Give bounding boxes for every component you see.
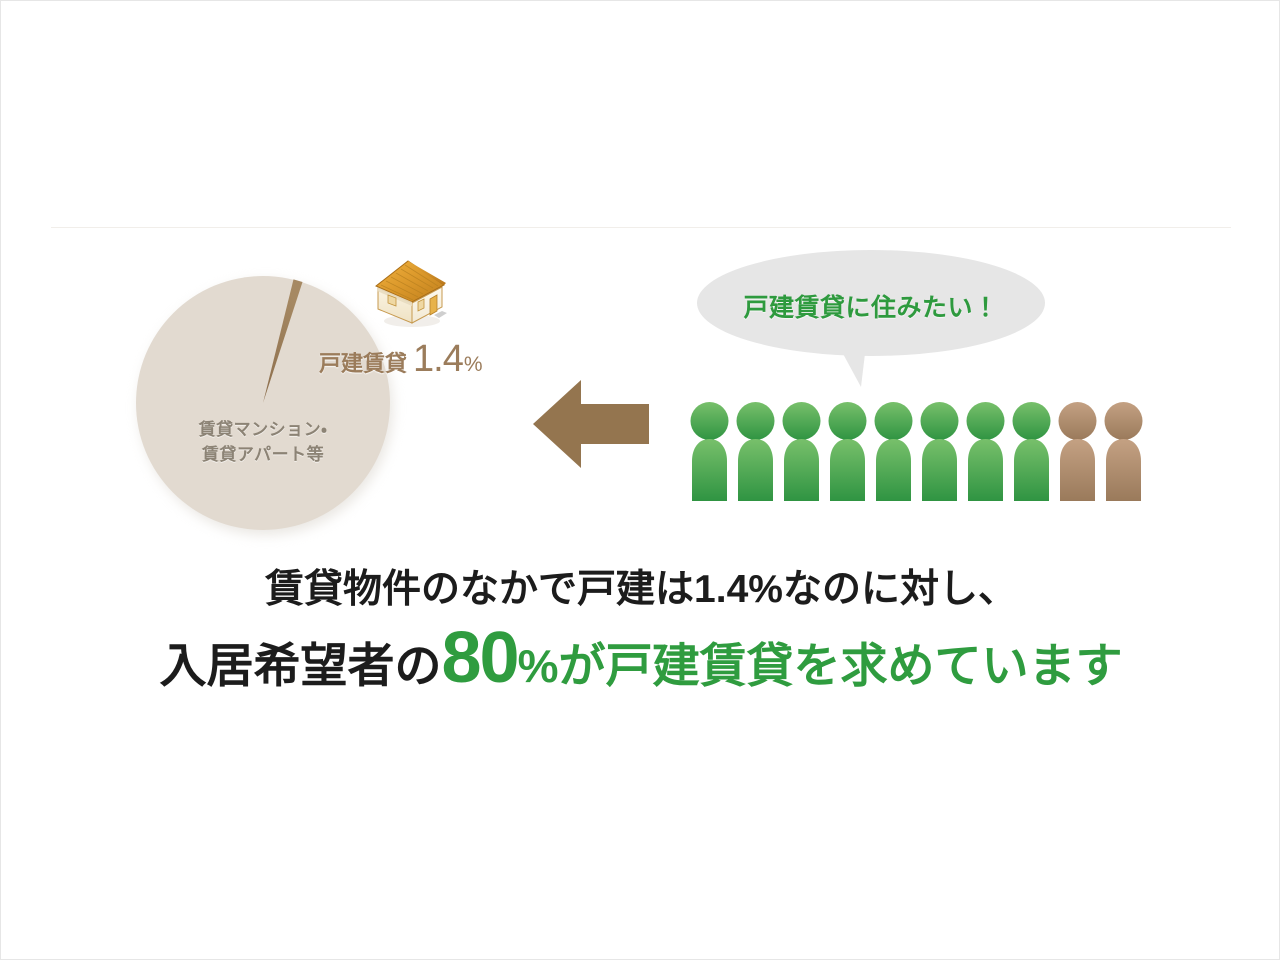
person-icon-green-4 [827, 401, 868, 502]
person-icon-brown-1 [1057, 401, 1098, 502]
house-icon [368, 249, 454, 335]
person-icon-green-8 [1011, 401, 1052, 502]
person-icon-green-7 [965, 401, 1006, 502]
person-icon-green-2 [735, 401, 776, 502]
person-icon-green-5 [873, 401, 914, 502]
pie-chart: 賃貸マンション・ 賃貸アパート等 [136, 276, 390, 530]
pie-callout-value: 1.4 [413, 338, 463, 381]
headline: 賃貸物件のなかで戸建は1.4%なのに対し、 入居希望者の80%が戸建賃貸を求めて… [1, 566, 1280, 698]
top-divider [51, 227, 1231, 228]
headline-line-1: 賃貸物件のなかで戸建は1.4%なのに対し、 [1, 566, 1280, 615]
person-icon-green-1 [689, 401, 730, 502]
pie-center-label: 賃貸マンション・ 賃貸アパート等 [136, 418, 390, 467]
pie-center-label-line2: 賃貸アパート等 [136, 443, 390, 468]
pie-minor-slice-kodate [136, 276, 390, 530]
headline-prefix: 入居希望者の [160, 639, 442, 692]
pie-callout-unit: % [464, 353, 483, 377]
people-pictogram [689, 401, 1144, 502]
pie-callout-kodate: 戸建賃貸 1.4 % [319, 338, 483, 381]
headline-percent: % [518, 640, 559, 692]
person-icon-green-3 [781, 401, 822, 502]
person-icon-green-6 [919, 401, 960, 502]
left-arrow-icon [529, 376, 653, 472]
person-icon-brown-2 [1103, 401, 1144, 502]
pie-center-label-line1: 賃貸マンション・ [136, 418, 390, 443]
headline-suffix: が戸建賃貸を求めています [559, 639, 1123, 692]
speech-bubble-text: 戸建賃貸に住みたい！ [695, 288, 1047, 324]
infographic-canvas: 賃貸マンション・ 賃貸アパート等 [0, 0, 1280, 960]
headline-big-number: 80 [442, 618, 518, 698]
headline-line-2: 入居希望者の80%が戸建賃貸を求めています [1, 619, 1280, 698]
pie-callout-text: 戸建賃貸 [319, 346, 407, 378]
